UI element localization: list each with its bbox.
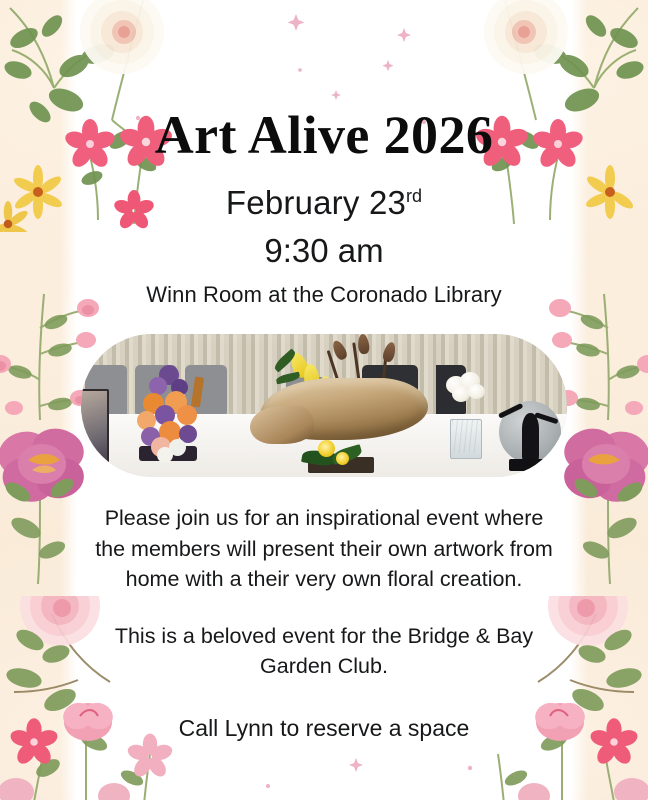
yellow-chrysanthemum <box>318 440 335 457</box>
collage-photo-center <box>246 334 436 477</box>
driftwood-sculpture-lower <box>250 406 314 444</box>
dancer-sculpture <box>522 413 539 465</box>
photo-collage <box>81 334 567 477</box>
event-date-text: February 23 <box>226 184 406 221</box>
event-time: 9:30 am <box>264 222 383 270</box>
collage-photo-left <box>81 334 246 477</box>
glass-vase <box>450 419 482 459</box>
event-date-ordinal: rd <box>406 186 422 206</box>
flyer-poster: Art Alive 2026 February 23rd 9:30 am Win… <box>0 0 648 800</box>
page-title: Art Alive 2026 <box>155 0 494 162</box>
yellow-chrysanthemum <box>336 452 349 465</box>
floral-arrangement-tower <box>129 369 207 461</box>
white-rose <box>452 386 470 402</box>
club-note: This is a beloved event for the Bridge &… <box>89 595 559 682</box>
event-venue: Winn Room at the Coronado Library <box>146 270 501 308</box>
call-to-action: Call Lynn to reserve a space <box>179 682 470 744</box>
flyer-content: Art Alive 2026 February 23rd 9:30 am Win… <box>0 0 648 800</box>
event-description: Please join us for an inspirational even… <box>89 477 559 595</box>
event-date: February 23rd <box>226 162 422 222</box>
collage-photo-right <box>436 334 567 477</box>
white-rose <box>468 384 485 399</box>
framed-artwork <box>81 389 109 471</box>
sculpture-base <box>509 459 549 471</box>
